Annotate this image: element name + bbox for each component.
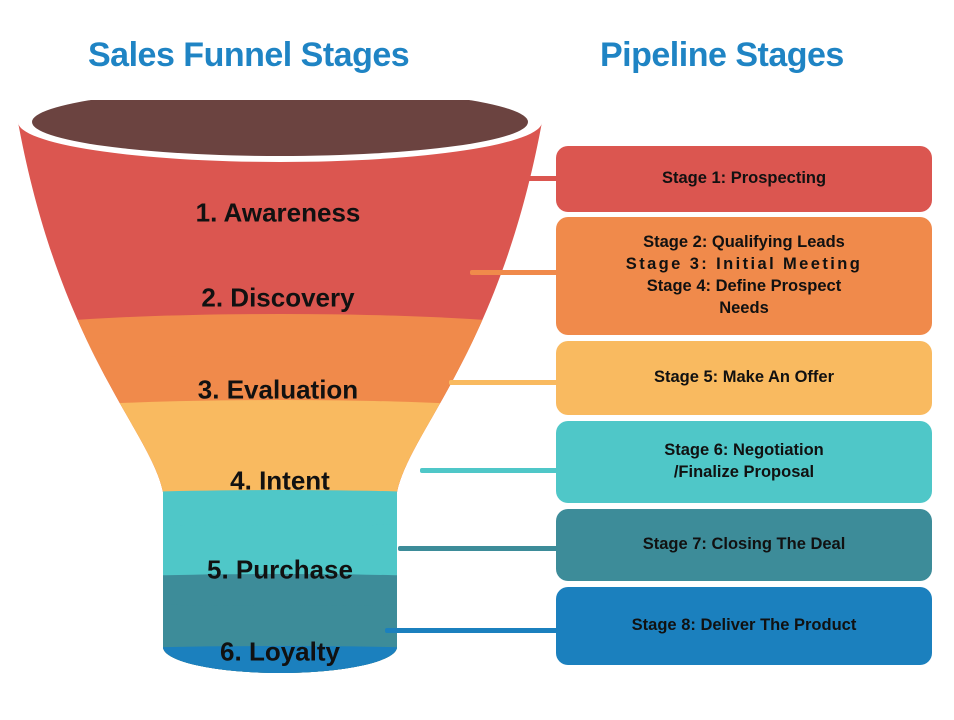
pipeline-box-stage-6-text: Stage 8: Deliver The Product (632, 615, 857, 637)
pipeline-line: Stage 2: Qualifying Leads (643, 233, 845, 251)
funnel-label-intent: 4. Intent (230, 466, 330, 497)
pipeline-line: Stage 6: Negotiation (664, 441, 824, 459)
pipeline-line: /Finalize Proposal (674, 463, 814, 481)
pipeline-line: Stage 3: Initial Meeting (626, 255, 862, 273)
page-title-sales-funnel: Sales Funnel Stages (88, 36, 409, 75)
funnel-label-discovery: 2. Discovery (201, 283, 354, 314)
funnel-graphic: 1. Awareness 2. Discovery 3. Evaluation … (0, 100, 560, 700)
funnel-label-evaluation: 3. Evaluation (198, 375, 358, 406)
connector-stage-1 (498, 176, 562, 181)
funnel-band-discovery-cap (0, 314, 560, 358)
connector-stage-5 (398, 546, 562, 551)
connector-stage-2 (470, 270, 562, 275)
pipeline-line: Stage 5: Make An Offer (654, 368, 834, 386)
pipeline-box-stage-4[interactable]: Stage 6: Negotiation /Finalize Proposal (556, 421, 932, 503)
pipeline-box-stage-2-text: Stage 2: Qualifying Leads Stage 3: Initi… (626, 232, 862, 319)
pipeline-box-stage-3-text: Stage 5: Make An Offer (654, 367, 834, 389)
funnel-label-loyalty: 6. Loyalty (220, 637, 340, 668)
funnel-rim-ellipse (32, 100, 528, 156)
pipeline-box-stage-1[interactable]: Stage 1: Prospecting (556, 146, 932, 212)
pipeline-box-stage-5-text: Stage 7: Closing The Deal (643, 534, 846, 556)
pipeline-column: Stage 1: Prospecting Stage 2: Qualifying… (556, 0, 936, 720)
pipeline-line: Stage 4: Define Prospect (647, 277, 841, 295)
pipeline-box-stage-6[interactable]: Stage 8: Deliver The Product (556, 587, 932, 665)
pipeline-box-stage-4-text: Stage 6: Negotiation /Finalize Proposal (664, 440, 824, 484)
funnel-label-purchase: 5. Purchase (207, 555, 353, 586)
pipeline-line: Stage 1: Prospecting (662, 169, 826, 187)
funnel-band-evaluation-cap (0, 400, 560, 440)
funnel-label-awareness: 1. Awareness (196, 198, 361, 229)
pipeline-box-stage-2[interactable]: Stage 2: Qualifying Leads Stage 3: Initi… (556, 217, 932, 335)
connector-stage-3 (449, 380, 562, 385)
pipeline-line: Stage 7: Closing The Deal (643, 535, 846, 553)
diagram-canvas: Sales Funnel Stages Pipeline Stages (0, 0, 954, 720)
pipeline-line: Needs (719, 299, 769, 317)
pipeline-box-stage-1-text: Stage 1: Prospecting (662, 168, 826, 190)
pipeline-line: Stage 8: Deliver The Product (632, 616, 857, 634)
pipeline-box-stage-3[interactable]: Stage 5: Make An Offer (556, 341, 932, 415)
connector-stage-6 (385, 628, 562, 633)
pipeline-box-stage-5[interactable]: Stage 7: Closing The Deal (556, 509, 932, 581)
connector-stage-4 (420, 468, 562, 473)
